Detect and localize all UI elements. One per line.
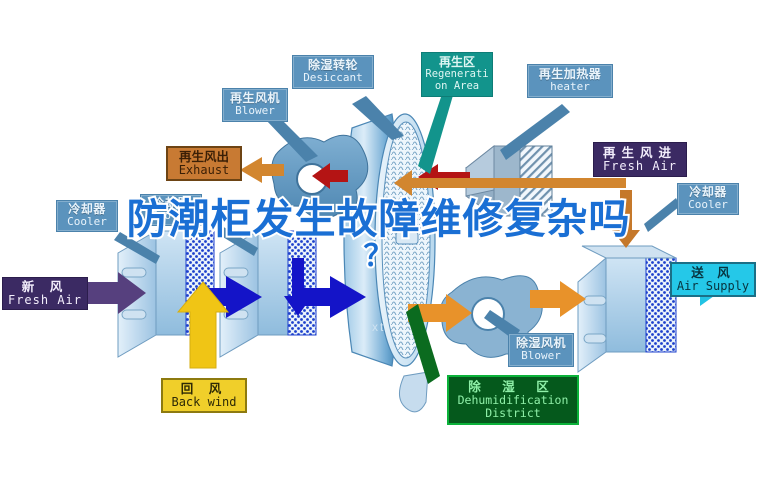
label-air-supply-cn: 送 风	[675, 266, 751, 280]
label-regeneration-heater-cn: 再生加热器	[532, 68, 608, 81]
label-regeneration-fresh-air-cn: 再生风进	[597, 146, 683, 160]
label-cooler-left-near[interactable]: 冷却器 Cooler	[140, 194, 202, 226]
label-dehumidification-district-en-1: Dehumidification	[452, 394, 574, 407]
label-fresh-air-intake-cn: 新 风	[6, 280, 84, 294]
label-dehumidification-blower[interactable]: 除湿风机 Blower	[508, 333, 574, 367]
label-cooler-right-cn: 冷却器	[681, 186, 735, 199]
label-cooler-left-far-en: Cooler	[60, 216, 114, 228]
label-cooler-left-near-cn: 冷却器	[144, 197, 198, 210]
schematic-svg	[0, 0, 757, 488]
label-dehumidification-blower-en: Blower	[513, 350, 569, 362]
label-desiccant-rotor-en: Desiccant	[297, 72, 369, 84]
label-cooler-right-en: Cooler	[681, 199, 735, 211]
label-air-supply[interactable]: 送 风 Air Supply	[670, 262, 756, 297]
label-back-wind-cn: 回 风	[166, 382, 242, 396]
label-cooler-right[interactable]: 冷却器 Cooler	[677, 183, 739, 215]
label-regeneration-area[interactable]: 再生区 Regenerati on Area	[421, 52, 493, 97]
label-air-supply-en: Air Supply	[675, 280, 751, 293]
label-dehumidification-blower-cn: 除湿风机	[513, 337, 569, 350]
label-fresh-air-intake-en: Fresh Air	[6, 294, 84, 307]
label-dehumidification-district-en-2: District	[452, 407, 574, 420]
label-fresh-air-intake[interactable]: 新 风 Fresh Air	[2, 277, 88, 310]
label-regeneration-heater[interactable]: 再生加热器 heater	[527, 64, 613, 98]
label-regeneration-fresh-air-en: Fresh Air	[597, 160, 683, 173]
label-regeneration-blower-cn: 再生风机	[227, 92, 283, 105]
label-regeneration-blower-en: Blower	[227, 105, 283, 117]
label-back-wind-en: Back wind	[166, 396, 242, 409]
label-desiccant-rotor[interactable]: 除湿转轮 Desiccant	[292, 55, 374, 89]
label-back-wind[interactable]: 回 风 Back wind	[161, 378, 247, 413]
label-regeneration-area-en-2: on Area	[425, 81, 489, 93]
label-cooler-left-far-cn: 冷却器	[60, 203, 114, 216]
label-cooler-left-far[interactable]: 冷却器 Cooler	[56, 200, 118, 232]
label-regeneration-blower[interactable]: 再生风机 Blower	[222, 88, 288, 122]
diagram-canvas: 除湿转轮 Desiccant 再生风机 Blower 再生区 Regenerat…	[0, 0, 757, 488]
watermark-text: xt	[372, 320, 385, 334]
label-desiccant-rotor-cn: 除湿转轮	[297, 59, 369, 72]
label-regeneration-area-cn: 再生区	[425, 56, 489, 69]
label-cooler-left-near-en: Cooler	[144, 210, 198, 222]
label-dehumidification-district[interactable]: 除 湿 区 Dehumidification District	[447, 375, 579, 425]
label-regeneration-exhaust[interactable]: 再生风出 Exhaust	[166, 146, 242, 181]
cooler-coil-right	[578, 246, 676, 372]
label-regeneration-exhaust-cn: 再生风出	[171, 150, 237, 164]
label-dehumidification-district-cn: 除 湿 区	[452, 380, 574, 394]
label-regeneration-fresh-air[interactable]: 再生风进 Fresh Air	[593, 142, 687, 177]
label-regeneration-heater-en: heater	[532, 81, 608, 93]
label-regeneration-exhaust-en: Exhaust	[171, 164, 237, 177]
